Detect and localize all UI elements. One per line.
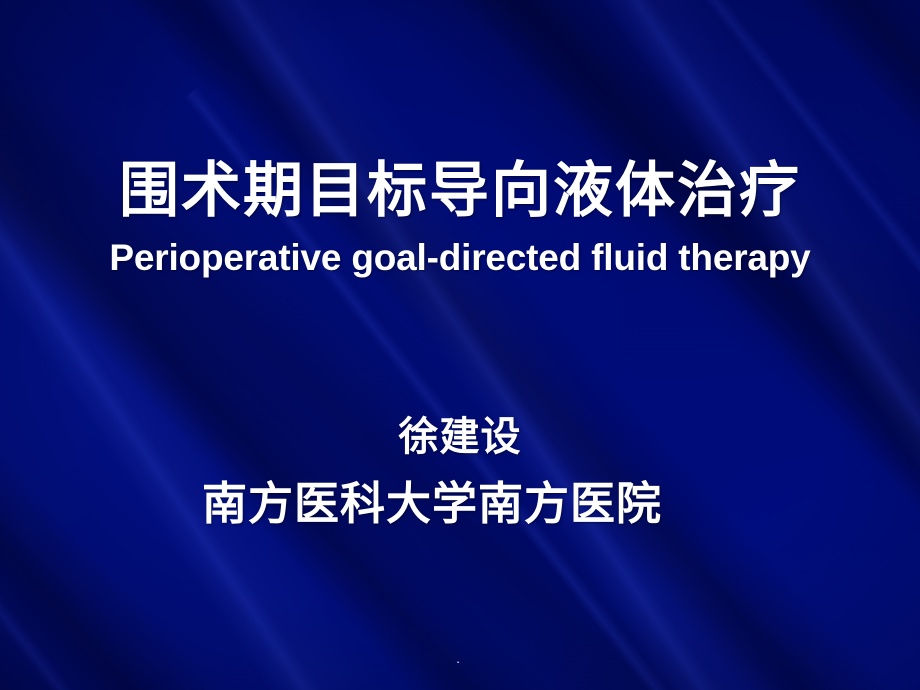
presenter-affiliation: 南方医科大学南方医院 (0, 478, 892, 530)
slide-title-english: Perioperative goal-directed fluid therap… (0, 238, 920, 279)
slide-title-chinese: 围术期目标导向液体治疗 (0, 158, 920, 225)
presentation-slide: 围术期目标导向液体治疗 Perioperative goal-directed … (0, 0, 920, 690)
slide-content: 围术期目标导向液体治疗 Perioperative goal-directed … (0, 0, 920, 690)
slide-footer-mark: . (0, 652, 918, 665)
presenter-name: 徐建设 (0, 414, 920, 460)
